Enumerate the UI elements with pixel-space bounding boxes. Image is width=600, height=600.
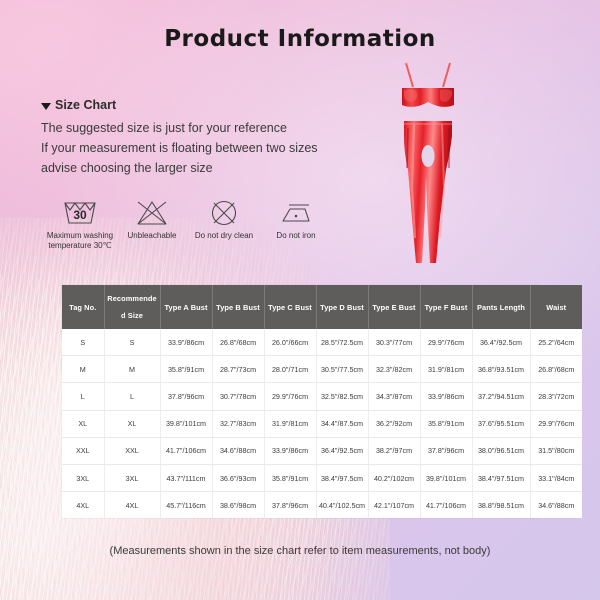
table-cell: 34.6"/88cm — [530, 492, 582, 519]
table-cell: 40.4"/102.5cm — [316, 492, 368, 519]
table-cell: 26.0"/66cm — [264, 329, 316, 356]
do-not-iron-icon — [279, 198, 313, 228]
table-cell: 30.3"/77cm — [368, 329, 420, 356]
product-photo — [382, 58, 474, 280]
table-row: 4XL4XL45.7"/116cm38.6"/98cm37.8"/96cm40.… — [62, 492, 582, 519]
table-cell: 41.7"/106cm — [420, 492, 472, 519]
col-header-type-c-bust: Type C Bust — [264, 285, 316, 329]
table-cell: 26.8"/68cm — [530, 356, 582, 383]
size-chart-note-3: advise choosing the larger size — [41, 158, 318, 178]
table-cell: 33.9"/86cm — [420, 383, 472, 410]
table-cell: 42.1"/107cm — [368, 492, 420, 519]
page-title: Product Information — [0, 26, 600, 52]
table-cell: 36.6"/93cm — [212, 464, 264, 491]
care-symbol-do-not-iron: Do not iron — [260, 198, 332, 251]
col-header-recommended-line2: d Size — [106, 311, 159, 320]
table-cell: 3XL — [104, 464, 160, 491]
table-cell: 25.2"/64cm — [530, 329, 582, 356]
table-row: XLXL39.8"/101cm32.7"/83cm31.9"/81cm34.4"… — [62, 410, 582, 437]
table-cell: 34.4"/87.5cm — [316, 410, 368, 437]
table-cell: S — [104, 329, 160, 356]
wash-30-icon: 30 — [60, 198, 100, 228]
table-cell: 33.1"/84cm — [530, 464, 582, 491]
table-cell: 37.8"/96cm — [264, 492, 316, 519]
table-cell: 37.6"/95.51cm — [472, 410, 530, 437]
table-cell: 36.4"/92.5cm — [472, 329, 530, 356]
size-chart-table-body: SS33.9"/86cm26.8"/68cm26.0"/66cm28.5"/72… — [62, 329, 582, 518]
table-cell: 30.7"/78cm — [212, 383, 264, 410]
table-cell: 36.2"/92cm — [368, 410, 420, 437]
table-cell: 43.7"/111cm — [160, 464, 212, 491]
col-header-waist: Waist — [530, 285, 582, 329]
table-cell: 31.9"/81cm — [420, 356, 472, 383]
table-cell: S — [62, 329, 104, 356]
size-chart-note-2: If your measurement is floating between … — [41, 138, 318, 158]
table-cell: 31.9"/81cm — [264, 410, 316, 437]
care-symbol-do-not-dry-clean: Do not dry clean — [188, 198, 260, 251]
col-header-recommended-line1: Recommende — [106, 294, 159, 303]
col-header-pants-length: Pants Length — [472, 285, 530, 329]
table-cell: 36.8"/93.51cm — [472, 356, 530, 383]
table-cell: 34.3"/87cm — [368, 383, 420, 410]
care-symbol-do-not-bleach-label: Unbleachable — [128, 231, 177, 241]
table-cell: XXL — [62, 437, 104, 464]
table-cell: 32.5"/82.5cm — [316, 383, 368, 410]
table-cell: 4XL — [62, 492, 104, 519]
col-header-type-f-bust: Type F Bust — [420, 285, 472, 329]
table-cell: 38.8"/98.51cm — [472, 492, 530, 519]
table-cell: 31.5"/80cm — [530, 437, 582, 464]
col-header-type-e-bust: Type E Bust — [368, 285, 420, 329]
col-header-type-d-bust: Type D Bust — [316, 285, 368, 329]
care-symbol-do-not-iron-label: Do not iron — [276, 231, 315, 241]
table-cell: 32.3"/82cm — [368, 356, 420, 383]
table-cell: 32.7"/83cm — [212, 410, 264, 437]
table-cell: 35.8"/91cm — [264, 464, 316, 491]
col-header-tag-no: Tag No. — [62, 285, 104, 329]
size-chart-heading: Size Chart — [41, 98, 116, 112]
table-cell: 33.9"/86cm — [264, 437, 316, 464]
size-chart-note-1: The suggested size is just for your refe… — [41, 118, 318, 138]
table-cell: XXL — [104, 437, 160, 464]
table-cell: 29.9"/76cm — [530, 410, 582, 437]
care-symbol-wash-30-label: Maximum washing temperature 30℃ — [47, 231, 113, 251]
table-cell: 26.8"/68cm — [212, 329, 264, 356]
svg-text:30: 30 — [73, 208, 87, 222]
table-cell: 28.7"/73cm — [212, 356, 264, 383]
table-cell: 39.8"/101cm — [160, 410, 212, 437]
table-row: SS33.9"/86cm26.8"/68cm26.0"/66cm28.5"/72… — [62, 329, 582, 356]
table-cell: 34.6"/88cm — [212, 437, 264, 464]
table-cell: 33.9"/86cm — [160, 329, 212, 356]
table-cell: 38.2"/97cm — [368, 437, 420, 464]
table-cell: 38.4"/97.5cm — [316, 464, 368, 491]
table-cell: 3XL — [62, 464, 104, 491]
table-cell: 37.8"/96cm — [420, 437, 472, 464]
table-row: MM35.8"/91cm28.7"/73cm28.0"/71cm30.5"/77… — [62, 356, 582, 383]
col-header-type-b-bust: Type B Bust — [212, 285, 264, 329]
table-cell: 28.5"/72.5cm — [316, 329, 368, 356]
table-cell: 28.0"/71cm — [264, 356, 316, 383]
size-chart-table: Tag No. Recommende d Size Type A Bust Ty… — [62, 285, 582, 518]
table-cell: 36.4"/92.5cm — [316, 437, 368, 464]
table-cell: XL — [62, 410, 104, 437]
table-cell: 38.6"/98cm — [212, 492, 264, 519]
measurement-footnote: (Measurements shown in the size chart re… — [0, 545, 600, 557]
size-chart-table-container: Tag No. Recommende d Size Type A Bust Ty… — [62, 285, 538, 518]
table-cell: 35.8"/91cm — [420, 410, 472, 437]
care-symbol-do-not-dry-clean-label: Do not dry clean — [195, 231, 253, 241]
table-cell: 39.8"/101cm — [420, 464, 472, 491]
care-symbols-row: 30 Maximum washing temperature 30℃ Unble… — [44, 198, 332, 251]
table-cell: 45.7"/116cm — [160, 492, 212, 519]
triangle-down-icon — [41, 103, 51, 110]
table-cell: 37.8"/96cm — [160, 383, 212, 410]
table-cell: 29.9"/76cm — [264, 383, 316, 410]
table-cell: L — [104, 383, 160, 410]
table-cell: 37.2"/94.51cm — [472, 383, 530, 410]
table-cell: 35.8"/91cm — [160, 356, 212, 383]
table-row: LL37.8"/96cm30.7"/78cm29.9"/76cm32.5"/82… — [62, 383, 582, 410]
table-cell: 30.5"/77.5cm — [316, 356, 368, 383]
table-header-row: Tag No. Recommende d Size Type A Bust Ty… — [62, 285, 582, 329]
table-cell: M — [104, 356, 160, 383]
col-header-recommended-size: Recommende d Size — [104, 285, 160, 329]
table-cell: 38.0"/96.51cm — [472, 437, 530, 464]
size-chart-heading-label: Size Chart — [55, 98, 116, 112]
table-cell: 38.4"/97.51cm — [472, 464, 530, 491]
product-information-page: Product Information Size Chart The sugge… — [0, 0, 600, 600]
table-row: 3XL3XL43.7"/111cm36.6"/93cm35.8"/91cm38.… — [62, 464, 582, 491]
care-symbol-do-not-bleach: Unbleachable — [116, 198, 188, 251]
table-cell: L — [62, 383, 104, 410]
col-header-type-a-bust: Type A Bust — [160, 285, 212, 329]
table-cell: M — [62, 356, 104, 383]
table-cell: 29.9"/76cm — [420, 329, 472, 356]
table-cell: XL — [104, 410, 160, 437]
table-cell: 28.3"/72cm — [530, 383, 582, 410]
table-cell: 41.7"/106cm — [160, 437, 212, 464]
care-symbol-wash-30: 30 Maximum washing temperature 30℃ — [44, 198, 116, 251]
table-cell: 40.2"/102cm — [368, 464, 420, 491]
table-cell: 4XL — [104, 492, 160, 519]
table-row: XXLXXL41.7"/106cm34.6"/88cm33.9"/86cm36.… — [62, 437, 582, 464]
do-not-dry-clean-icon — [208, 198, 240, 228]
do-not-bleach-icon — [135, 198, 169, 228]
size-chart-notes: The suggested size is just for your refe… — [41, 118, 318, 178]
